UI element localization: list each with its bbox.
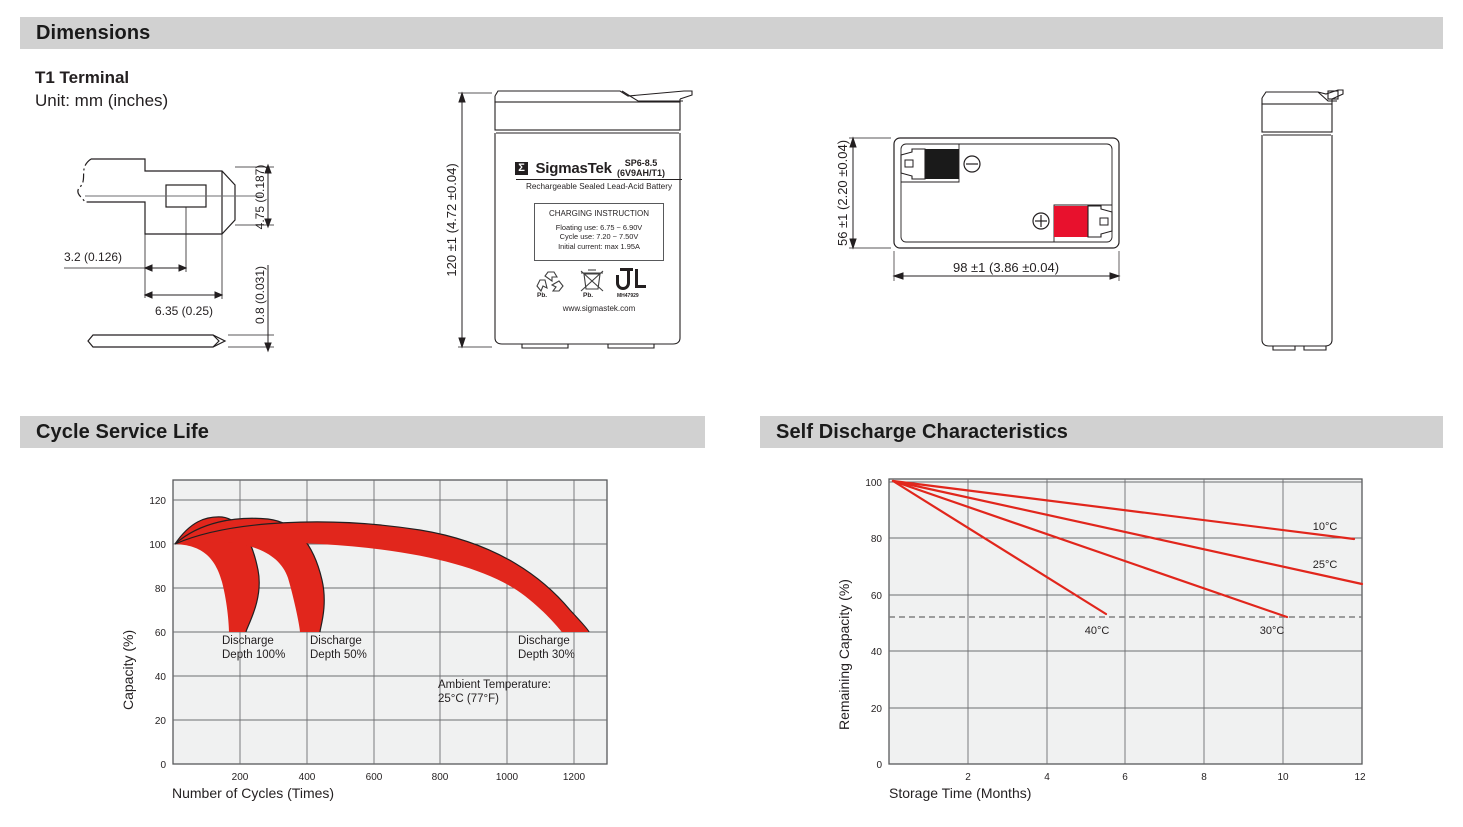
svg-text:600: 600	[366, 772, 383, 783]
svg-text:1200: 1200	[563, 772, 586, 783]
svg-text:0: 0	[876, 760, 882, 771]
svg-text:8: 8	[1201, 772, 1207, 783]
svg-text:80: 80	[871, 534, 883, 545]
annot-dod100-line2: Depth 100%	[222, 649, 285, 661]
annot-ambient-line2: 25°C (77°F)	[438, 693, 499, 705]
self-label-40c: 40°C	[1085, 625, 1110, 637]
self-x-ticks: 2 4 6 8 10 12	[965, 772, 1366, 783]
svg-text:60: 60	[155, 628, 167, 639]
svg-text:2: 2	[965, 772, 971, 783]
annot-dod100-line1: Discharge	[222, 635, 274, 647]
svg-text:1000: 1000	[496, 772, 519, 783]
self-y-ticks: 100 80 60 40 20 0	[865, 478, 882, 771]
svg-text:40: 40	[155, 672, 167, 683]
cycle-x-ticks: 200 400 600 800 1000 1200	[232, 772, 586, 783]
annot-dod50-line2: Depth 50%	[310, 649, 367, 661]
svg-text:10: 10	[1277, 772, 1289, 783]
annot-dod30-line2: Depth 30%	[518, 649, 575, 661]
svg-text:12: 12	[1354, 772, 1366, 783]
self-label-25c: 25°C	[1313, 559, 1338, 571]
svg-text:200: 200	[232, 772, 249, 783]
self-label-10c: 10°C	[1313, 521, 1338, 533]
svg-text:0: 0	[160, 760, 166, 771]
svg-text:20: 20	[871, 704, 883, 715]
svg-text:6: 6	[1122, 772, 1128, 783]
self-ylabel: Remaining Capacity (%)	[836, 579, 852, 730]
cycle-y-ticks: 120 100 80 60 40 20 0	[149, 496, 166, 771]
svg-text:120: 120	[149, 496, 166, 507]
svg-text:400: 400	[299, 772, 316, 783]
cycle-xlabel: Number of Cycles (Times)	[172, 785, 334, 801]
svg-text:4: 4	[1044, 772, 1050, 783]
svg-text:40: 40	[871, 647, 883, 658]
svg-text:100: 100	[865, 478, 882, 489]
cycle-ylabel: Capacity (%)	[120, 630, 136, 710]
svg-text:100: 100	[149, 540, 166, 551]
cycle-service-life-chart: 120 100 80 60 40 20 0 200 400 600 800 10…	[0, 0, 700, 827]
annot-dod50-line1: Discharge	[310, 635, 362, 647]
svg-text:20: 20	[155, 716, 167, 727]
annot-dod30-line1: Discharge	[518, 635, 570, 647]
self-xlabel: Storage Time (Months)	[889, 785, 1031, 801]
annot-ambient-line1: Ambient Temperature:	[438, 679, 551, 691]
svg-text:60: 60	[871, 591, 883, 602]
svg-text:800: 800	[432, 772, 449, 783]
svg-text:80: 80	[155, 584, 167, 595]
self-label-30c: 30°C	[1260, 625, 1285, 637]
self-discharge-chart: 40°C 30°C 25°C 10°C 100 80 60 40 20 0 2 …	[760, 0, 1463, 827]
